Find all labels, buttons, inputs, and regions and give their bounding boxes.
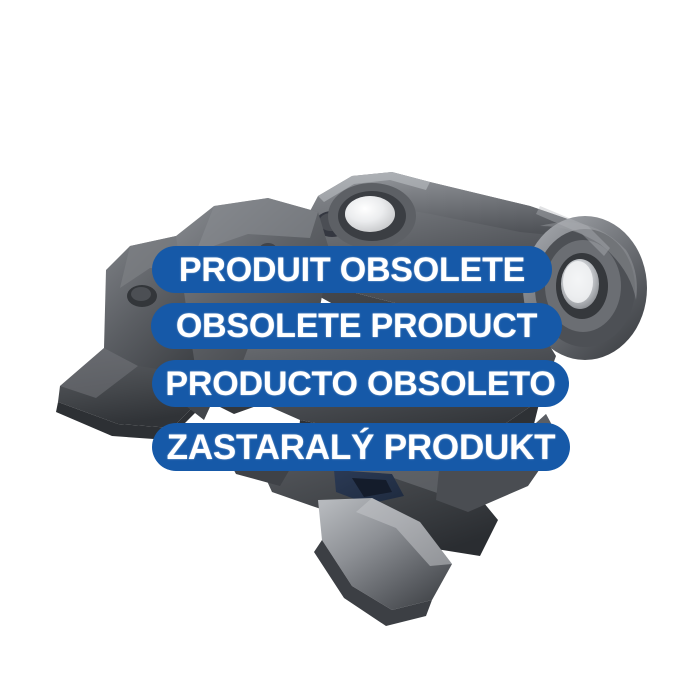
obsolete-banner-czech-label: ZASTARALÝ PRODUKT — [167, 430, 556, 465]
obsolete-banner-english-label: OBSOLETE PRODUCT — [176, 309, 537, 343]
obsolete-banner-stack: PRODUIT OBSOLETE OBSOLETE PRODUCT PRODUC… — [0, 240, 700, 480]
obsolete-banner-spanish-label: PRODUCTO OBSOLETO — [165, 367, 555, 401]
obsolete-banner-french: PRODUIT OBSOLETE — [152, 246, 552, 293]
product-obsolete-screen: PRODUIT OBSOLETE OBSOLETE PRODUCT PRODUC… — [0, 0, 700, 700]
obsolete-banner-czech: ZASTARALÝ PRODUKT — [152, 423, 570, 471]
obsolete-banner-spanish: PRODUCTO OBSOLETO — [152, 360, 569, 407]
obsolete-banner-english: OBSOLETE PRODUCT — [151, 303, 562, 349]
obsolete-banner-french-label: PRODUIT OBSOLETE — [179, 253, 525, 287]
